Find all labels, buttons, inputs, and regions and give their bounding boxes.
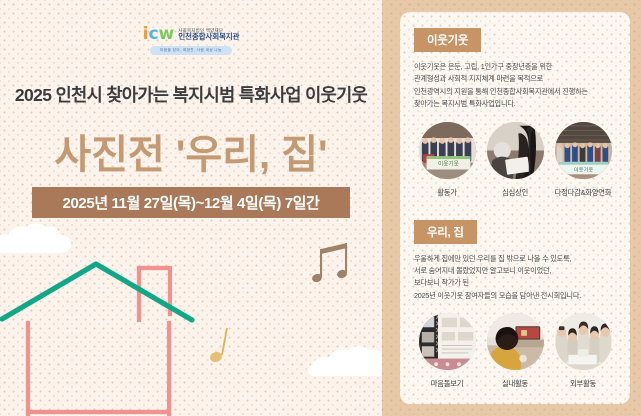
section-iutgiut: 이웃기웃 이웃기웃은 은둔, 고립, 1인가구 중장년층을 위한 관계형성과 사… — [414, 28, 616, 198]
photo-thumbnail-indoor-activity — [487, 313, 544, 370]
photo-caption: 마음돌보기 — [431, 378, 464, 389]
photo-item: 이웃기웃 다정다감&화양연화 — [552, 122, 614, 198]
svg-text:이웃기웃: 이웃기웃 — [573, 165, 593, 173]
paragraph-line: 찾아가는 복지시범 특화사업입니다. — [414, 98, 616, 110]
svg-text:이웃기웃: 이웃기웃 — [437, 159, 458, 167]
photo-thumbnail-group-indoor: 이웃기웃 — [555, 122, 612, 179]
date-banner: 2025년 11월 27일(목)~12월 4일(목) 7일간 — [32, 187, 350, 218]
photo-caption: 심심상인 — [502, 187, 528, 198]
photo-item: 마음돌보기 — [416, 313, 478, 389]
logo-center-name: 인천종합사회복지관 — [178, 33, 239, 42]
photo-caption: 외부활동 — [570, 378, 596, 389]
logo-letter-c: c — [148, 26, 157, 43]
poster-title: 사진전 '우리, 집' — [0, 122, 382, 180]
paragraph-line: 서로 숨어지내 몰랐었지만 알고보니 이웃이었던, — [414, 265, 616, 277]
section-paragraph-uri-jip: 우울하게 집에만 있던 우리를 집 밖으로 나올 수 있도록, 서로 숨어지내 … — [414, 253, 616, 303]
photo-row-iutgiut: 이웃기웃 활동가 — [414, 122, 616, 198]
paragraph-line: 우울하게 집에만 있던 우리를 집 밖으로 나올 수 있도록, — [414, 253, 616, 265]
section-badge-uri-jip: 우리, 집 — [414, 220, 477, 244]
paragraph-line: 보다보니 작가가 된 — [414, 277, 616, 289]
photo-thumbnail-two-people-reading — [487, 122, 544, 179]
photo-caption: 실내활동 — [502, 378, 528, 389]
logo-letter-w: w — [159, 26, 174, 43]
paragraph-line: 이웃기웃은 은둔, 고립, 1인가구 중장년층을 위한 — [414, 61, 616, 73]
paragraph-line: 인천광역시의 지원을 통해 인천종합사회복지관에서 진행하는 — [414, 86, 616, 98]
photo-thumbnail-scrapbook — [419, 313, 476, 370]
photo-item: 심심상인 — [484, 122, 546, 198]
photo-item: 실내활동 — [484, 313, 546, 389]
poster-subtitle: 2025 인천시 찾아가는 복지시범 특화사업 이웃기웃 — [0, 82, 382, 107]
photo-item: 이웃기웃 활동가 — [416, 122, 478, 198]
logo-letter-i: i — [143, 26, 148, 43]
poster-root: i c w 사회복지법인 백양재단 인천종합사회복지관 마음을 담아, 희망찬,… — [0, 0, 641, 416]
info-card: 이웃기웃 이웃기웃은 은둔, 고립, 1인가구 중장년층을 위한 관계형성과 사… — [400, 12, 630, 404]
photo-item: 외부활동 — [552, 313, 614, 389]
paragraph-line: 2025년 이웃기웃 참여자들의 모습을 담아낸 전시회입니다. — [414, 290, 616, 302]
section-uri-jip: 우리, 집 우울하게 집에만 있던 우리를 집 밖으로 나올 수 있도록, 서로… — [414, 220, 616, 390]
photo-thumbnail-group-banner: 이웃기웃 — [419, 122, 476, 179]
photo-thumbnail-family-portrait — [555, 313, 612, 370]
paragraph-line: 관계형성과 사회적 지지체계 마련을 목적으로 — [414, 73, 616, 85]
section-badge-iutgiut: 이웃기웃 — [414, 28, 481, 52]
organization-logo: i c w 사회복지법인 백양재단 인천종합사회복지관 마음을 담아, 희망찬,… — [0, 26, 382, 55]
photo-row-uri-jip: 마음돌보기 — [414, 313, 616, 389]
left-panel: i c w 사회복지법인 백양재단 인천종합사회복지관 마음을 담아, 희망찬,… — [0, 0, 382, 416]
section-paragraph-iutgiut: 이웃기웃은 은둔, 고립, 1인가구 중장년층을 위한 관계형성과 사회적 지지… — [414, 61, 616, 111]
photo-caption: 활동가 — [437, 187, 457, 198]
photo-caption: 다정다감&화양연화 — [555, 187, 612, 198]
logo-mark-icon: i c w — [143, 26, 174, 43]
logo-tagline: 마음을 담아, 희망찬, 사람 세상 나눔 — [150, 46, 232, 55]
right-panel: 이웃기웃 이웃기웃은 은둔, 고립, 1인가구 중장년층을 위한 관계형성과 사… — [382, 0, 641, 416]
